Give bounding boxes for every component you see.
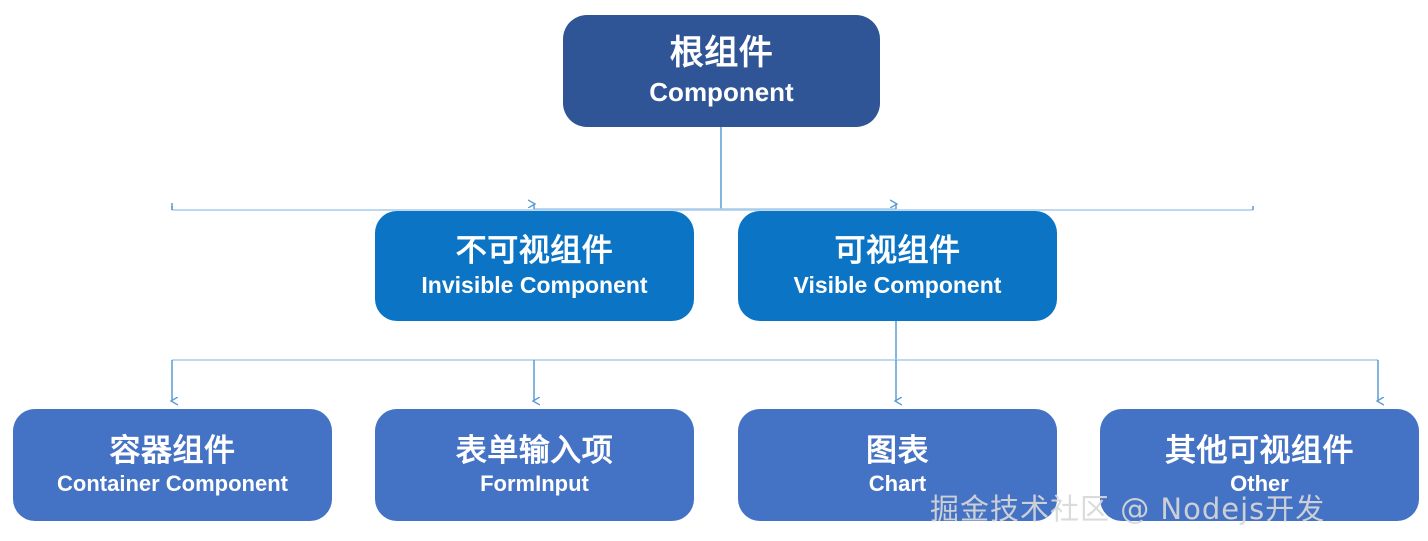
node-invisible-component[interactable]: 不可视组件 Invisible Component — [375, 211, 694, 321]
node-container-component-cn: 容器组件 — [110, 435, 236, 468]
node-root-component[interactable]: 根组件 Component — [563, 15, 880, 127]
node-chart-en: Chart — [869, 472, 926, 495]
node-chart-cn: 图表 — [866, 435, 929, 468]
node-form-input-cn: 表单输入项 — [456, 435, 614, 468]
node-container-component[interactable]: 容器组件 Container Component — [13, 409, 332, 521]
component-hierarchy-diagram: 根组件 Component 不可视组件 Invisible Component … — [0, 0, 1428, 541]
node-other-visible-component-en: Other — [1230, 472, 1289, 495]
node-other-visible-component[interactable]: 其他可视组件 Other — [1100, 409, 1419, 521]
node-form-input[interactable]: 表单输入项 FormInput — [375, 409, 694, 521]
node-root-component-cn: 根组件 — [670, 36, 774, 72]
node-invisible-component-en: Invisible Component — [421, 273, 647, 297]
node-invisible-component-cn: 不可视组件 — [456, 235, 614, 268]
node-form-input-en: FormInput — [480, 472, 589, 495]
node-root-component-en: Component — [649, 79, 793, 106]
node-other-visible-component-cn: 其他可视组件 — [1165, 435, 1354, 468]
node-visible-component[interactable]: 可视组件 Visible Component — [738, 211, 1057, 321]
node-visible-component-en: Visible Component — [794, 273, 1002, 297]
node-chart[interactable]: 图表 Chart — [738, 409, 1057, 521]
node-container-component-en: Container Component — [57, 472, 288, 495]
node-visible-component-cn: 可视组件 — [835, 235, 961, 268]
